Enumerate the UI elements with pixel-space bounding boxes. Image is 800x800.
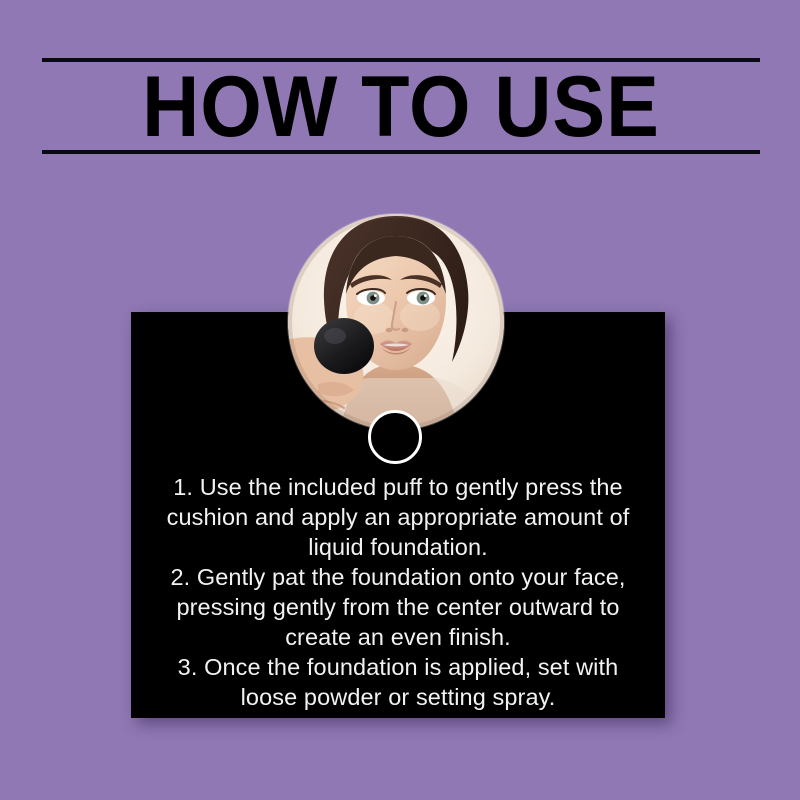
instruction-step-3: 3. Once the foundation is applied, set w… xyxy=(153,652,643,712)
header-block: HOW TO USE xyxy=(42,58,760,154)
instruction-list: 1. Use the included puff to gently press… xyxy=(153,472,643,712)
cushion-puff-circle xyxy=(368,410,422,464)
portrait-image xyxy=(288,214,504,430)
instruction-step-1: 1. Use the included puff to gently press… xyxy=(153,472,643,562)
page-title: HOW TO USE xyxy=(71,64,732,150)
title-rule-bottom xyxy=(42,150,760,154)
instruction-step-2: 2. Gently pat the foundation onto your f… xyxy=(153,562,643,652)
how-to-use-poster: HOW TO USE 1. Use the included puff to g… xyxy=(0,0,800,800)
